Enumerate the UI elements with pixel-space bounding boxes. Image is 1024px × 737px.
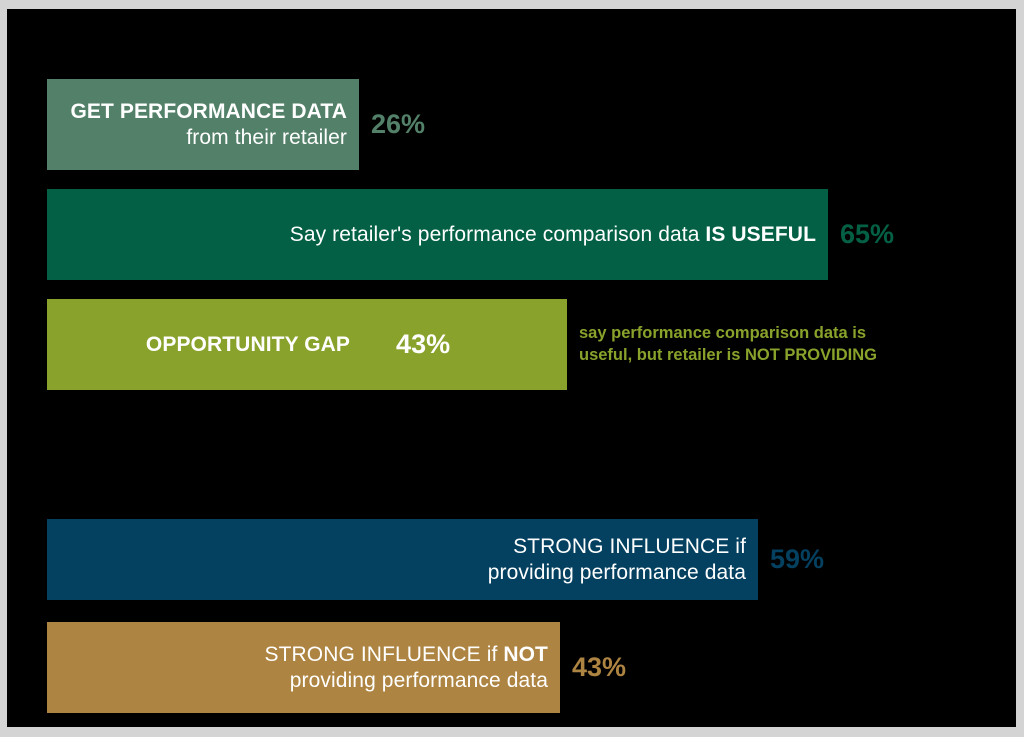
bar-chart: GET PERFORMANCE DATA from their retailer… [7, 9, 1016, 727]
bar-label-opportunity-gap: OPPORTUNITY GAP [146, 332, 350, 358]
bar-label-line1: Say retailer's performance comparison da… [290, 222, 816, 248]
bar-label-line2: providing performance data [265, 668, 549, 694]
bar-value-strong-influence-not-providing: 43% [572, 652, 626, 683]
bar-note-line2: useful, but retailer is NOT PROVIDING [579, 345, 877, 366]
bar-label-line1: GET PERFORMANCE DATA [70, 99, 347, 125]
bar-note-opportunity-gap: say performance comparison data is usefu… [579, 323, 877, 365]
bar-label-strong-influence-not-providing: STRONG INFLUENCE if NOT providing perfor… [265, 642, 549, 693]
bar-strong-influence-not-providing: STRONG INFLUENCE if NOT providing perfor… [47, 622, 560, 713]
bar-row-get-performance-data: GET PERFORMANCE DATA from their retailer… [47, 79, 425, 170]
bar-label-line2: providing performance data [488, 560, 746, 586]
bar-get-performance-data: GET PERFORMANCE DATA from their retailer [47, 79, 359, 170]
bar-label-text: STRONG INFLUENCE if [265, 643, 504, 666]
bar-value-get-performance-data: 26% [371, 109, 425, 140]
bar-note-emphasis: NOT PROVIDING [745, 346, 877, 364]
bar-value-data-is-useful: 65% [840, 219, 894, 250]
bar-label-line2: from their retailer [70, 125, 347, 151]
bar-label-data-is-useful: Say retailer's performance comparison da… [290, 222, 816, 248]
bar-row-opportunity-gap: OPPORTUNITY GAP 43% say performance comp… [47, 299, 877, 390]
bar-label-line1: STRONG INFLUENCE if NOT [265, 642, 549, 668]
bar-data-is-useful: Say retailer's performance comparison da… [47, 189, 828, 280]
bar-value-strong-influence-providing: 59% [770, 544, 824, 575]
bar-value-opportunity-gap: 43% [396, 329, 450, 360]
bar-note-line1: say performance comparison data is [579, 323, 877, 344]
bar-label-strong-influence-providing: STRONG INFLUENCE if providing performanc… [488, 534, 746, 585]
bar-label-get-performance-data: GET PERFORMANCE DATA from their retailer [70, 99, 347, 150]
bar-label-line1: OPPORTUNITY GAP [146, 332, 350, 358]
bar-opportunity-gap: OPPORTUNITY GAP 43% [47, 299, 567, 390]
bar-label-emphasis: NOT [503, 643, 548, 666]
bar-label-emphasis: IS USEFUL [705, 223, 816, 246]
bar-row-data-is-useful: Say retailer's performance comparison da… [47, 189, 894, 280]
bar-label-text: Say retailer's performance comparison da… [290, 223, 706, 246]
bar-row-strong-influence-not-providing: STRONG INFLUENCE if NOT providing perfor… [47, 622, 626, 713]
infographic-canvas: GET PERFORMANCE DATA from their retailer… [0, 0, 1024, 737]
bar-strong-influence-providing: STRONG INFLUENCE if providing performanc… [47, 519, 758, 600]
bar-label-line1: STRONG INFLUENCE if [488, 534, 746, 560]
bar-note-text: useful, but retailer is [579, 346, 745, 364]
bar-row-strong-influence-providing: STRONG INFLUENCE if providing performanc… [47, 519, 824, 600]
